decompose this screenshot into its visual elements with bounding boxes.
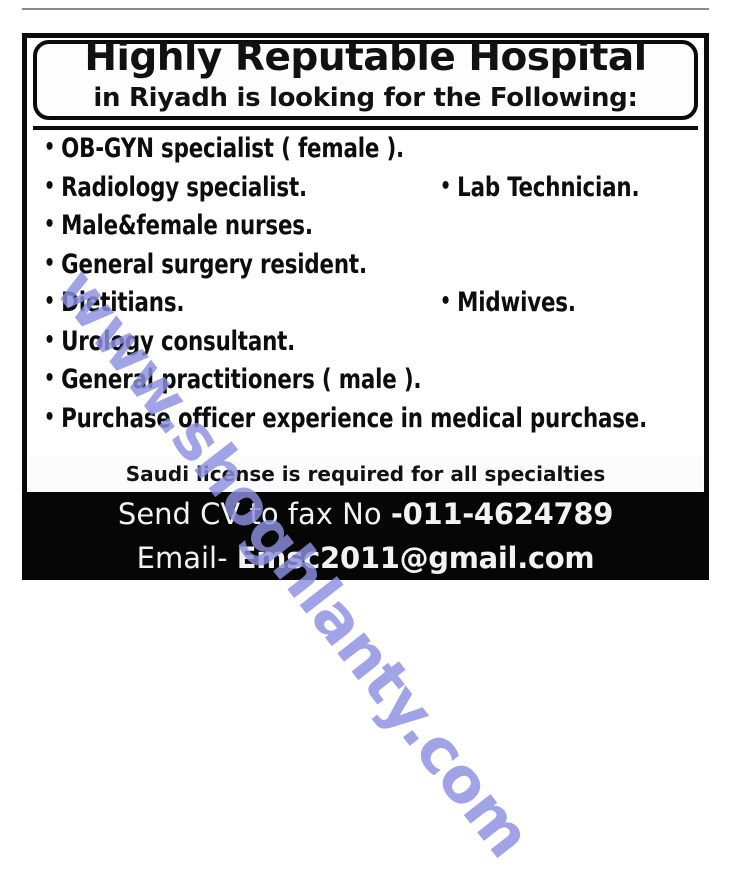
contact-footer: Send CV to fax No -011-4624789 Email- Em… (22, 492, 709, 580)
list-item-label: OB-GYN specialist ( female ). (61, 133, 404, 164)
list-item: •Lab Technician. (440, 172, 639, 203)
license-note: Saudi license is required for all specia… (28, 456, 703, 492)
bullet-icon: • (44, 326, 55, 356)
list-item: •Radiology specialist. (44, 172, 307, 203)
list-item: •Dietitians. (44, 287, 184, 318)
list-item-label: Lab Technician. (457, 172, 639, 203)
bullet-icon: • (440, 172, 451, 202)
list-row: •Male&female nurses. (0, 210, 731, 249)
list-item-label: Urology consultant. (61, 326, 295, 357)
list-item: •Urology consultant. (44, 326, 295, 357)
list-item-label: General practitioners ( male ). (61, 364, 421, 395)
bullet-icon: • (44, 210, 55, 240)
list-item-label: Purchase officer experience in medical p… (61, 403, 647, 434)
bullet-icon: • (44, 364, 55, 394)
bullet-icon: • (44, 249, 55, 279)
list-item: •Male&female nurses. (44, 210, 313, 241)
list-item: •General surgery resident. (44, 249, 367, 280)
bullet-icon: • (440, 287, 451, 317)
list-item-label: Midwives. (457, 287, 576, 318)
fax-label: Send CV to fax No (118, 497, 391, 531)
bullet-icon: • (44, 287, 55, 317)
list-row: •General practitioners ( male ). (0, 364, 731, 403)
fax-number: -011-4624789 (391, 497, 613, 531)
list-row: •Radiology specialist. •Lab Technician. (0, 172, 731, 211)
email-line: Email- Emsc2011@gmail.com (22, 536, 709, 580)
list-item-label: Male&female nurses. (61, 210, 313, 241)
list-item-label: Radiology specialist. (61, 172, 307, 203)
header-divider-rule (33, 126, 698, 130)
bullet-icon: • (44, 133, 55, 163)
list-item: •General practitioners ( male ). (44, 364, 421, 395)
list-row: •Purchase officer experience in medical … (0, 403, 731, 442)
list-row: •General surgery resident. (0, 249, 731, 288)
list-item-label: Dietitians. (61, 287, 184, 318)
list-row: •OB-GYN specialist ( female ). (0, 133, 731, 172)
bullet-icon: • (44, 403, 55, 433)
list-row: •Dietitians. •Midwives. (0, 287, 731, 326)
top-divider-rule (22, 8, 709, 10)
bullet-icon: • (44, 172, 55, 202)
email-label: Email- (137, 541, 237, 575)
list-item-label: General surgery resident. (61, 249, 367, 280)
list-row: •Urology consultant. (0, 326, 731, 365)
list-item: •Midwives. (440, 287, 576, 318)
positions-list: •OB-GYN specialist ( female ). •Radiolog… (0, 133, 731, 443)
email-address: Emsc2011@gmail.com (237, 541, 595, 575)
list-item: •OB-GYN specialist ( female ). (44, 133, 404, 164)
job-advertisement: Highly Reputable Hospital in Riyadh is l… (0, 0, 731, 599)
fax-line: Send CV to fax No -011-4624789 (22, 492, 709, 536)
page-subtitle: in Riyadh is looking for the Following: (0, 83, 731, 113)
page-title: Highly Reputable Hospital (0, 37, 731, 79)
list-item: •Purchase officer experience in medical … (44, 403, 647, 434)
